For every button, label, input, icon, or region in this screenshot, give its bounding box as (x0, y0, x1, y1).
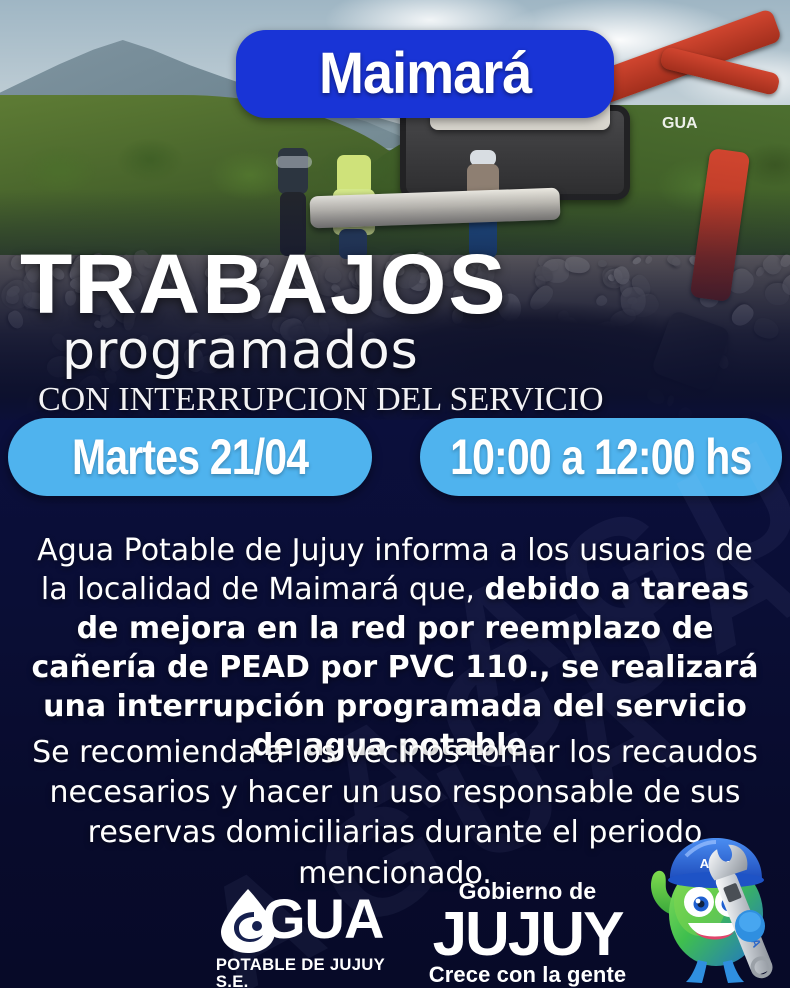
agua-logo-word: GUA (262, 891, 383, 947)
headline-primary: TRABAJOS (20, 246, 632, 323)
gobierno-jujuy-logo: Gobierno de JUJUY Crece con la gente (425, 880, 630, 980)
jujuy-logo-slogan: Crece con la gente (425, 964, 630, 986)
jujuy-logo-main: JUJUY (425, 906, 630, 963)
locality-badge: Maimará (236, 30, 614, 118)
mascot-leg-left (686, 960, 707, 983)
agua-mascot-icon: Agua AGUA (640, 822, 790, 988)
headline-secondary: programados (62, 325, 620, 377)
paragraph-one: Agua Potable de Jujuy informa a los usua… (22, 531, 768, 765)
headline-tertiary: CON INTERRUPCION DEL SERVICIO (38, 383, 620, 417)
agua-potable-logo: GUA POTABLE DE JUJUY S.E. (210, 888, 400, 980)
agua-logo-subtitle: POTABLE DE JUJUY S.E. (216, 956, 398, 988)
poster-root: GUA GUA Maimará TRABAJOS pro (0, 0, 790, 988)
locality-label: Maimará (319, 45, 531, 103)
mascot-leg-right (723, 960, 744, 983)
headline-block: TRABAJOS programados CON INTERRUPCION DE… (20, 246, 620, 417)
